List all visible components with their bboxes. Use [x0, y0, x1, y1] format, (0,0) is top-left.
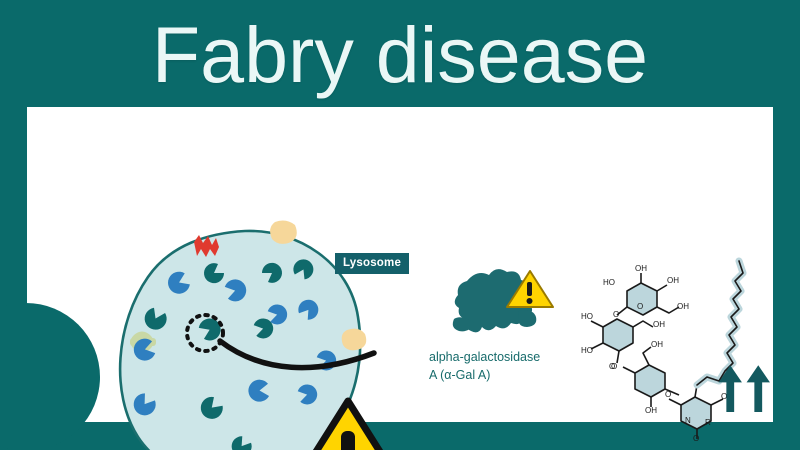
svg-text:R: R [705, 418, 711, 427]
svg-text:HO: HO [581, 312, 593, 321]
svg-text:O: O [613, 310, 619, 319]
svg-text:HO: HO [603, 278, 615, 287]
membrane-protein-tan-top [270, 221, 297, 244]
svg-text:OH: OH [651, 340, 663, 349]
svg-text:OH: OH [667, 276, 679, 285]
page-title: Fabry disease [0, 6, 800, 102]
slide-canvas: Fabry disease [0, 0, 800, 450]
lysosome-label: Lysosome [335, 253, 409, 274]
enzyme-name-line1: alpha-galactosidase [429, 350, 540, 364]
content-panel: Lysosome alpha [27, 107, 773, 422]
alpha-gal-a-enzyme [445, 267, 565, 345]
svg-text:O: O [693, 434, 699, 443]
svg-text:N: N [685, 416, 691, 425]
svg-text:OH: OH [645, 406, 657, 415]
svg-text:OH: OH [677, 302, 689, 311]
enzyme-label: alpha-galactosidase A (α-Gal A) [429, 348, 594, 384]
deficiency-warning-icon [285, 395, 411, 450]
svg-text:OH: OH [635, 264, 647, 273]
svg-text:HO: HO [581, 346, 593, 355]
svg-text:O: O [665, 390, 671, 399]
accumulation-arrows [717, 359, 773, 421]
membrane-protein-tan-right [342, 329, 367, 351]
svg-text:O: O [637, 302, 643, 311]
svg-text:OH: OH [653, 320, 665, 329]
svg-text:O: O [609, 362, 615, 371]
enzyme-name-line2: A (α-Gal A) [429, 368, 490, 382]
